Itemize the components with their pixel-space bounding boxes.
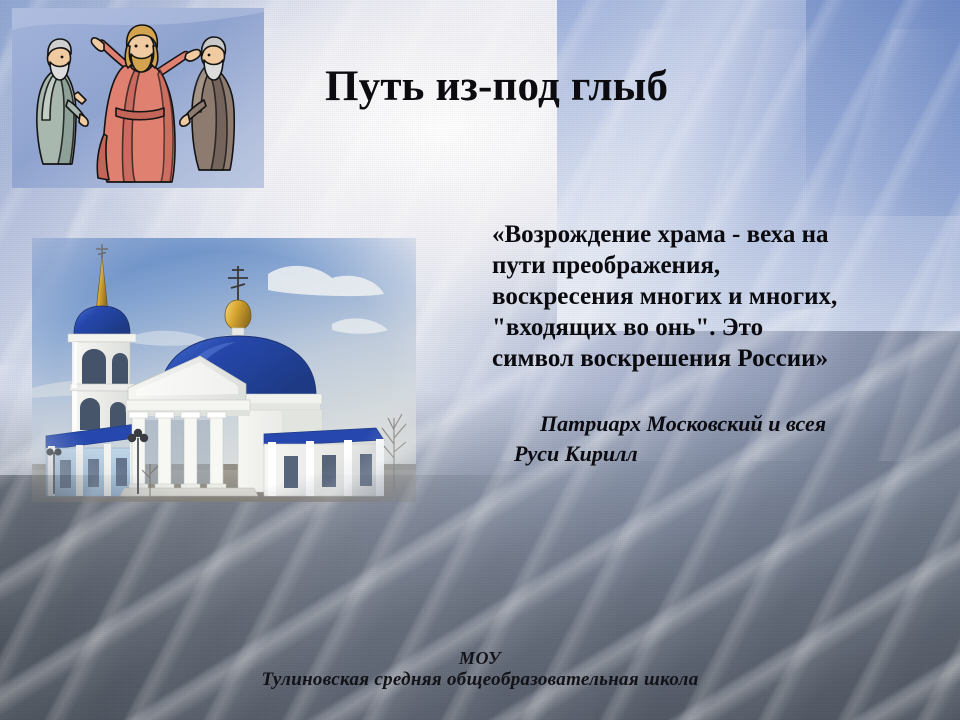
slide-title: Путь из-под глыб xyxy=(325,62,668,111)
presentation-slide: Путь из-под глыб xyxy=(0,0,960,720)
quote-line: "входящих во онь". Это xyxy=(492,312,944,343)
attribution-line: Руси Кирилл xyxy=(492,439,952,469)
quote-line: символ воскрешения России» xyxy=(492,343,944,374)
slide-footer: МОУ Тулиновская средняя общеобразователь… xyxy=(0,648,960,692)
three-biblical-figures-clipart xyxy=(12,8,264,188)
footer-school-abbrev: МОУ xyxy=(0,648,960,668)
quote-line: пути преображения, xyxy=(492,250,944,281)
quote-block: «Возрождение храма - веха на пути преобр… xyxy=(492,219,944,374)
attribution-line: Патриарх Московский и всея xyxy=(492,409,952,439)
church-photo xyxy=(32,238,416,502)
quote-attribution: Патриарх Московский и всея Руси Кирилл xyxy=(492,409,952,469)
footer-school-name: Тулиновская средняя общеобразовательная … xyxy=(0,668,960,692)
quote-line: воскресения многих и многих, xyxy=(492,281,944,312)
quote-line: «Возрождение храма - веха на xyxy=(492,219,944,250)
